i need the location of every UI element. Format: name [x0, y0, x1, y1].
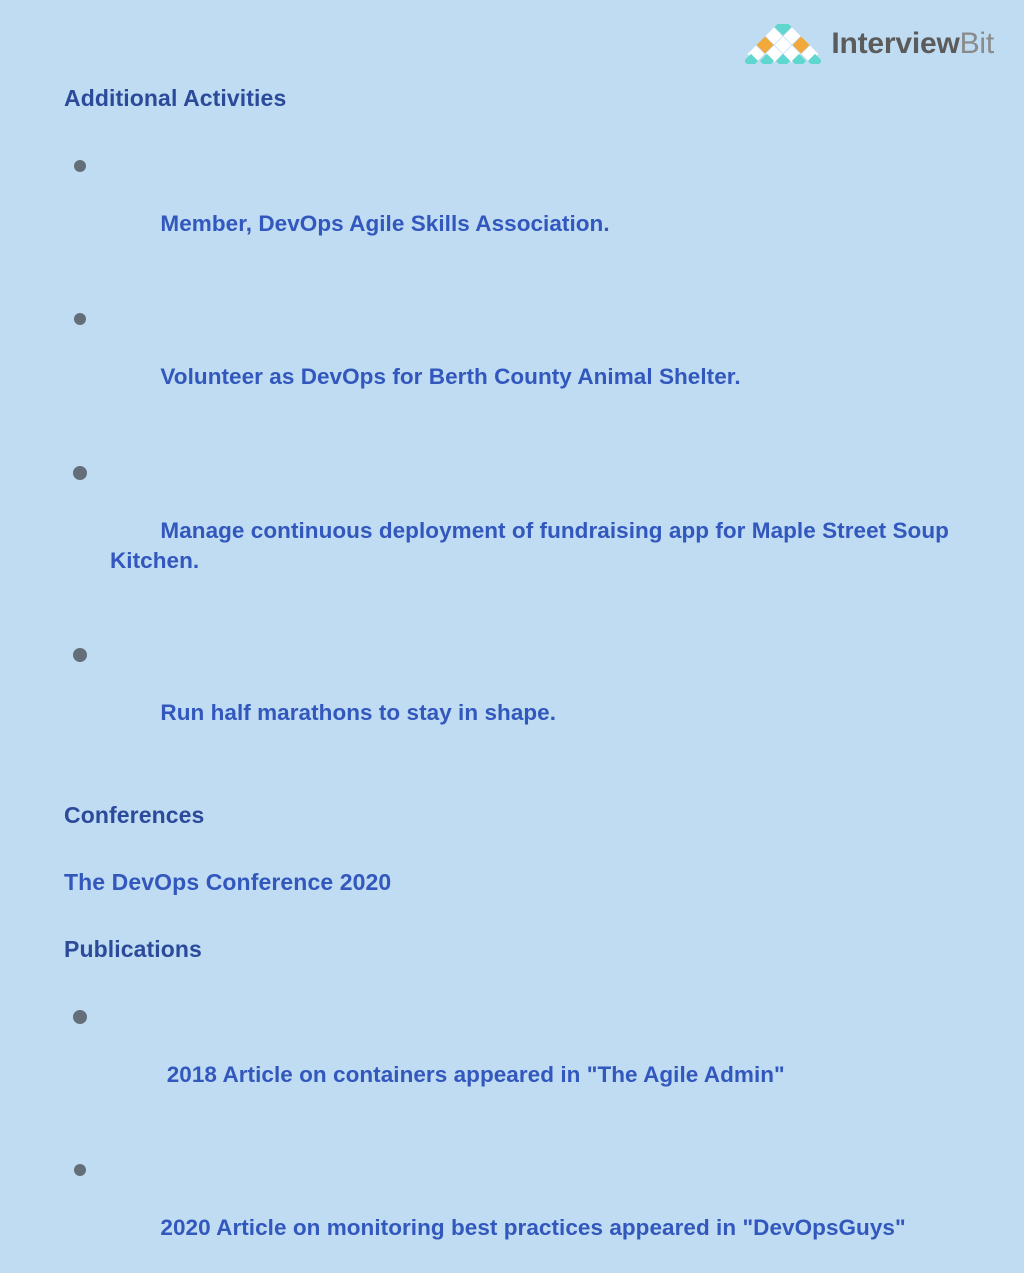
- section-heading-additional-activities: Additional Activities: [64, 84, 984, 113]
- bullet-dot-icon: [74, 1164, 86, 1176]
- publications-list: 2018 Article on containers appeared in "…: [64, 1000, 984, 1273]
- document-page: InterviewBit Additional Activities Membe…: [0, 0, 1024, 897]
- document-content: Additional Activities Member, DevOps Agi…: [64, 84, 984, 1273]
- brand-wordmark: InterviewBit: [831, 29, 994, 59]
- bullet-dot-icon: [73, 466, 87, 480]
- list-item: Member, DevOps Agile Skills Association.: [64, 149, 984, 269]
- list-item-text: 2020 Article on monitoring best practice…: [160, 1215, 905, 1240]
- interviewbit-diamond-logo-icon: [745, 24, 821, 64]
- list-item: Volunteer as DevOps for Berth County Ani…: [64, 302, 984, 422]
- brand-name-light: Bit: [960, 29, 994, 59]
- section-heading-publications: Publications: [64, 935, 984, 964]
- list-item-text: Member, DevOps Agile Skills Association.: [160, 211, 609, 236]
- interviewbit-logo: InterviewBit: [745, 22, 994, 66]
- list-item: Manage continuous deployment of fundrais…: [64, 456, 984, 606]
- list-item-text: 2018 Article on containers appeared in "…: [160, 1062, 784, 1087]
- bullet-dot-icon: [73, 648, 87, 662]
- additional-activities-list: Member, DevOps Agile Skills Association.…: [64, 149, 984, 758]
- list-item-text: Manage continuous deployment of fundrais…: [110, 518, 955, 573]
- bullet-dot-icon: [74, 160, 86, 172]
- conference-entry-title: The DevOps Conference 2020: [64, 868, 984, 897]
- list-item-text: Volunteer as DevOps for Berth County Ani…: [160, 364, 740, 389]
- list-item-text: Run half marathons to stay in shape.: [160, 700, 556, 725]
- brand-name-bold: Interview: [831, 29, 959, 59]
- list-item: 2018 Article on containers appeared in "…: [64, 1000, 984, 1120]
- bullet-dot-icon: [73, 1010, 87, 1024]
- list-item: 2020 Article on monitoring best practice…: [64, 1153, 984, 1273]
- section-heading-conferences: Conferences: [64, 801, 984, 830]
- list-item: Run half marathons to stay in shape.: [64, 638, 984, 758]
- bullet-dot-icon: [74, 313, 86, 325]
